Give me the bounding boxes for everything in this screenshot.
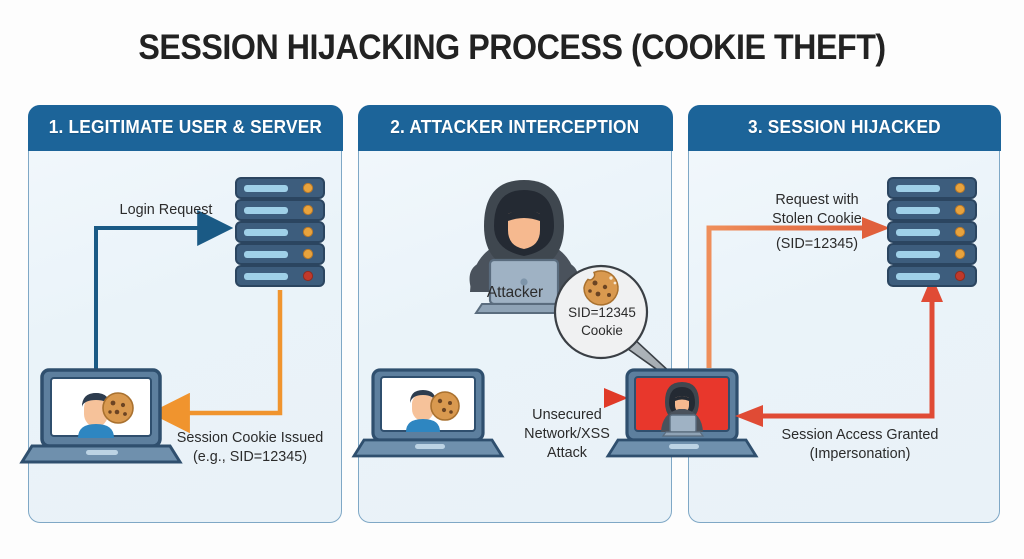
request-stolen-cookie-label: Request with Stolen Cookie — [745, 190, 889, 228]
balloon-sid-label: SID=12345 — [558, 303, 646, 321]
panel-2-header: 2. ATTACKER INTERCEPTION — [358, 105, 673, 151]
panel-3-header: 3. SESSION HIJACKED — [688, 105, 1001, 151]
attacker-label: Attacker — [457, 283, 572, 302]
login-request-label: Login Request — [99, 200, 233, 219]
request-sid-sublabel: (SID=12345) — [745, 234, 889, 253]
page-title: SESSION HIJACKING PROCESS (COOKIE THEFT) — [41, 28, 983, 68]
infographic-canvas: SESSION HIJACKING PROCESS (COOKIE THEFT)… — [0, 0, 1024, 559]
panel-1-header: 1. LEGITIMATE USER & SERVER — [28, 105, 343, 151]
session-cookie-issued-label: Session Cookie Issued (e.g., SID=12345) — [164, 428, 337, 466]
panel-1-header-label: 1. LEGITIMATE USER & SERVER — [48, 117, 321, 138]
unsecured-network-label: Unsecured Network/XSS Attack — [500, 405, 634, 462]
panel-3-header-label: 3. SESSION HIJACKED — [748, 117, 941, 138]
balloon-cookie-label: Cookie — [558, 321, 646, 339]
panel-2-header-label: 2. ATTACKER INTERCEPTION — [390, 117, 639, 138]
session-access-granted-label: Session Access Granted (Impersonation) — [764, 425, 956, 463]
